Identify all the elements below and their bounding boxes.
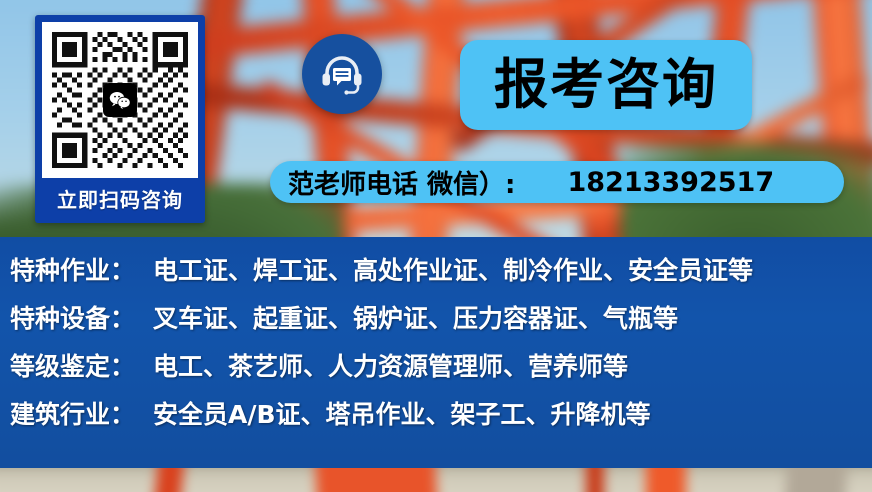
qr-code-image[interactable]	[42, 22, 198, 178]
category-label: 建筑行业：	[10, 395, 135, 431]
wechat-icon	[103, 83, 137, 117]
headset-support-icon	[302, 34, 382, 114]
qr-caption: 立即扫码咨询	[57, 178, 183, 222]
contact-banner[interactable]: 范老师电话 微信）: 18213392517	[270, 161, 844, 203]
wechat-glyph	[109, 91, 131, 110]
category-row-grade-appraisal: 等级鉴定： 电工、茶艺师、人力资源管理师、营养师等	[10, 347, 872, 395]
category-items: 叉车证、起重证、锅炉证、压力容器证、气瓶等	[153, 299, 678, 335]
category-label: 等级鉴定：	[10, 347, 135, 383]
headset-glyph	[317, 49, 367, 99]
contact-phone-number[interactable]: 18213392517	[567, 167, 774, 198]
category-items: 安全员A/B证、塔吊作业、架子工、升降机等	[153, 395, 651, 431]
promo-poster: 立即扫码咨询 报考咨询 范老师电话 微信）: 18213392517 特	[0, 0, 872, 492]
background-bottom-strip	[0, 468, 872, 492]
category-items: 电工、茶艺师、人力资源管理师、营养师等	[153, 347, 628, 383]
category-row-special-equipment: 特种设备： 叉车证、起重证、锅炉证、压力容器证、气瓶等	[10, 299, 872, 347]
contact-label: 范老师电话 微信）:	[288, 164, 515, 201]
headline-text: 报考咨询	[494, 58, 718, 112]
category-label: 特种作业：	[10, 251, 135, 287]
category-list-panel: 特种作业： 电工证、焊工证、高处作业证、制冷作业、安全员证等 特种设备： 叉车证…	[0, 237, 872, 468]
category-row-construction-industry: 建筑行业： 安全员A/B证、塔吊作业、架子工、升降机等	[10, 395, 872, 443]
category-row-special-operations: 特种作业： 电工证、焊工证、高处作业证、制冷作业、安全员证等	[10, 251, 872, 299]
category-label: 特种设备：	[10, 299, 135, 335]
qr-code-card[interactable]: 立即扫码咨询	[35, 15, 205, 223]
category-items: 电工证、焊工证、高处作业证、制冷作业、安全员证等	[153, 251, 753, 287]
headline-banner: 报考咨询	[460, 40, 752, 130]
